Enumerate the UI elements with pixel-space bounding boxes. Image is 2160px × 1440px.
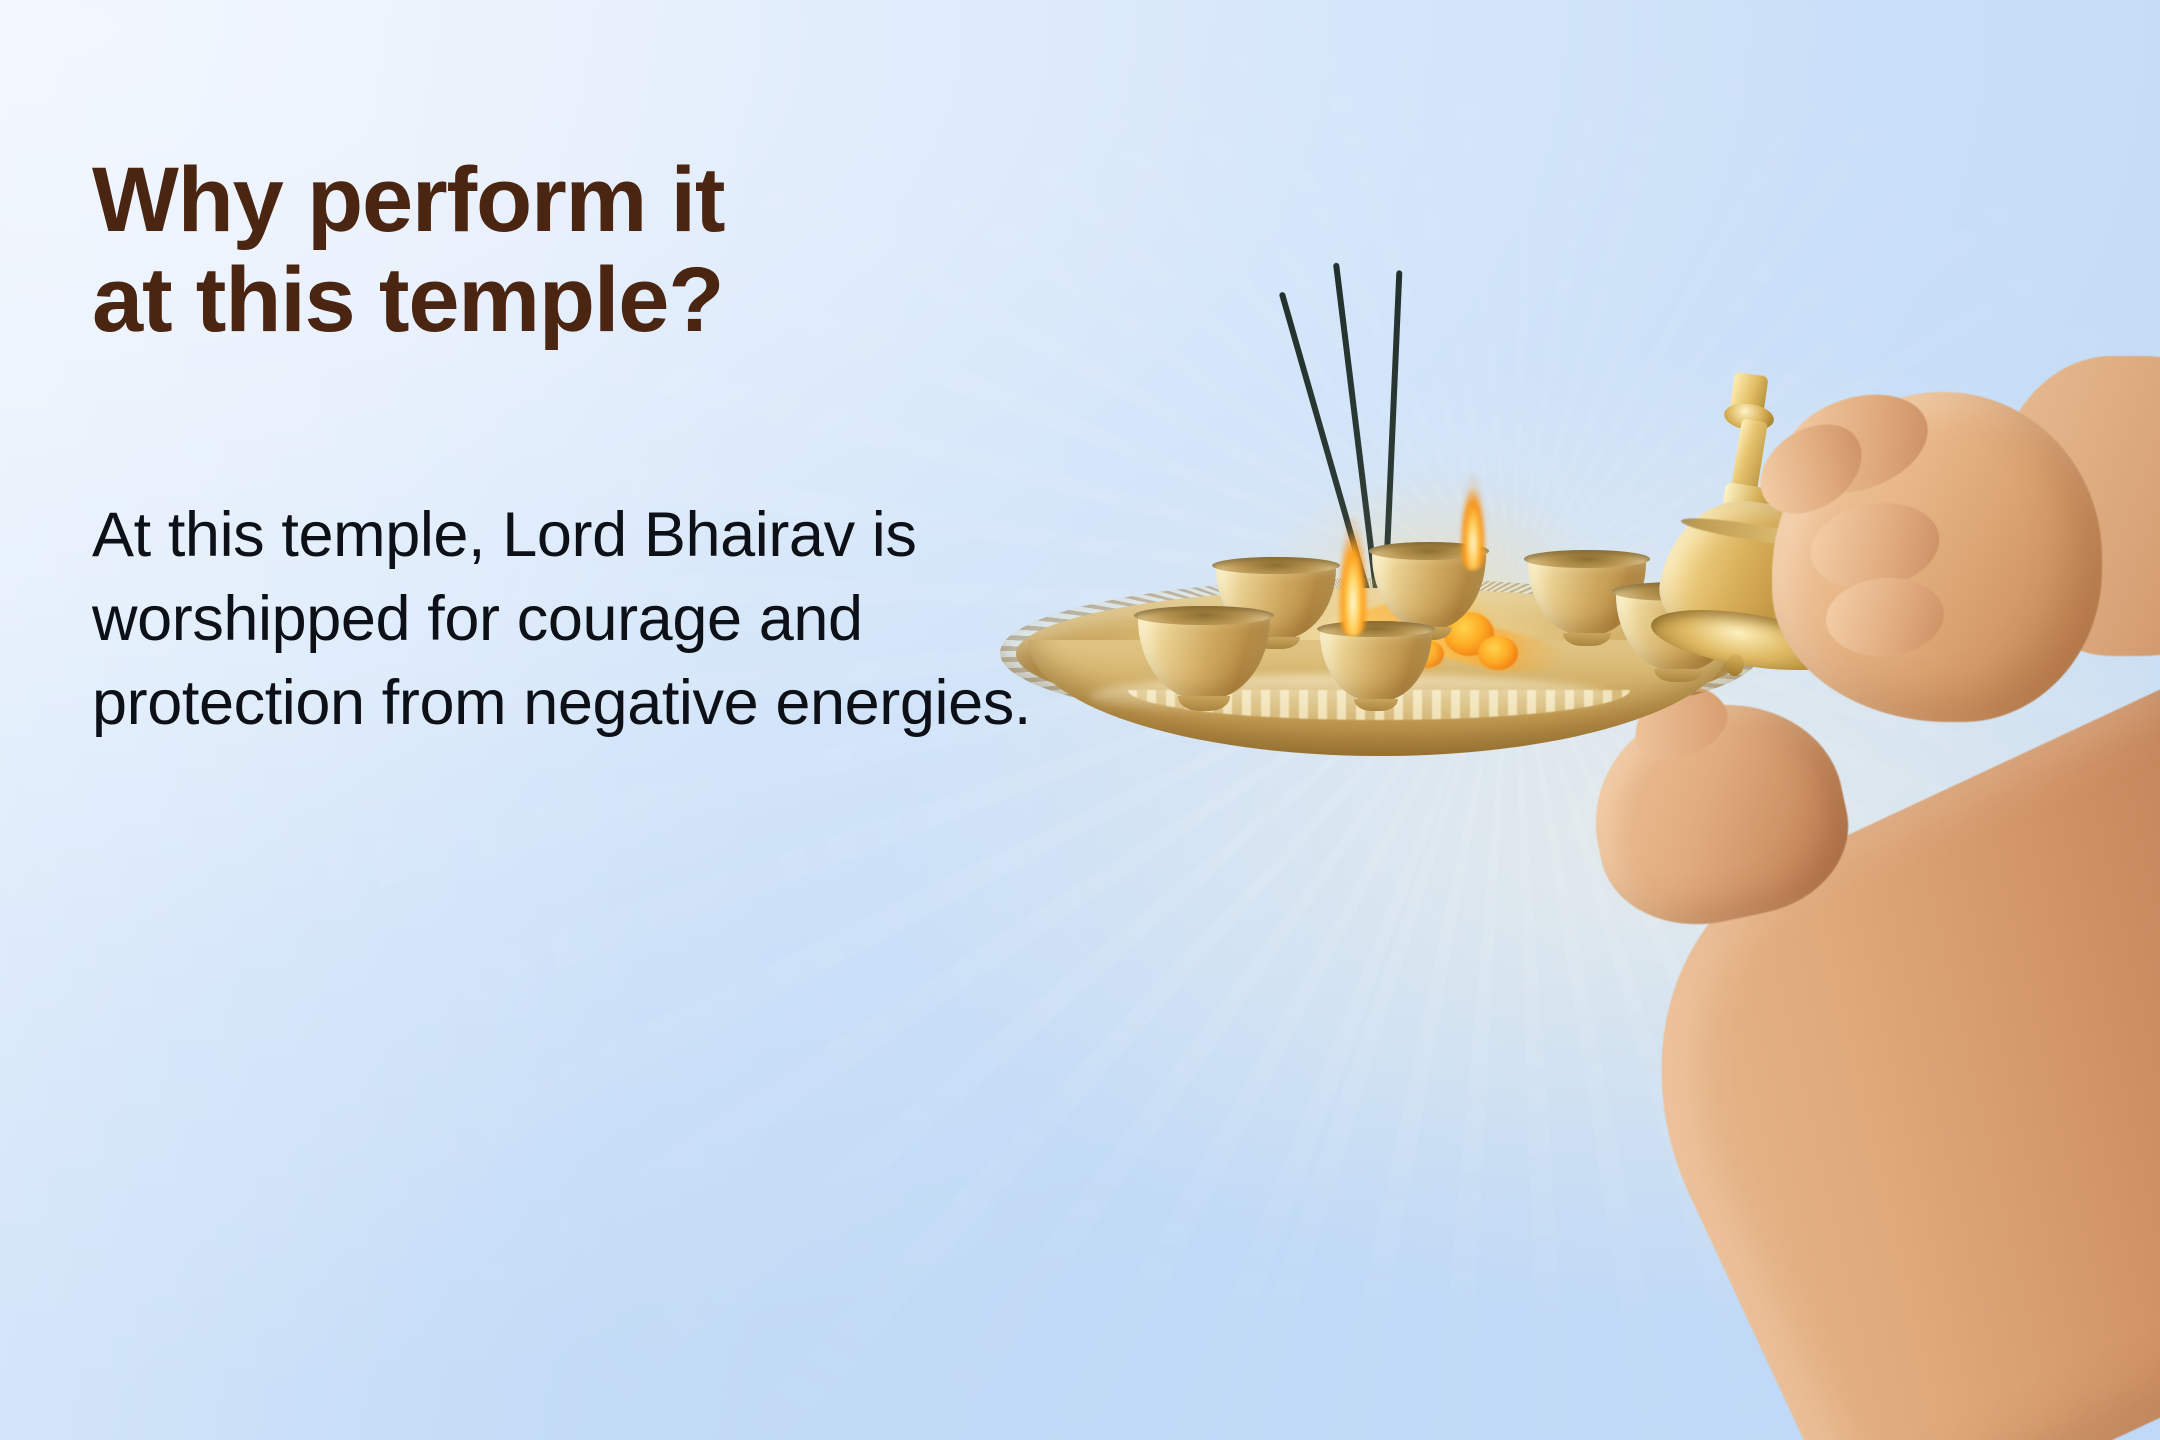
diya-bowl-front-left <box>1138 612 1270 700</box>
diya-bowl-lip <box>1212 557 1339 574</box>
pooja-photo <box>1020 0 2160 1440</box>
body-paragraph: At this temple, Lord Bhairav is worshipp… <box>92 493 1052 746</box>
text-block: Why perform it at this temple? At this t… <box>92 150 1092 746</box>
slide-canvas: Why perform it at this temple? At this t… <box>0 0 2160 1440</box>
marigold-flower-2 <box>1478 636 1518 670</box>
diya-bowl-center-front <box>1320 626 1432 702</box>
diya-bowl-cup <box>1320 626 1432 702</box>
diya-bowl-lip <box>1134 606 1274 625</box>
diya-bowl-cup <box>1138 612 1270 700</box>
page-title: Why perform it at this temple? <box>92 150 1092 351</box>
